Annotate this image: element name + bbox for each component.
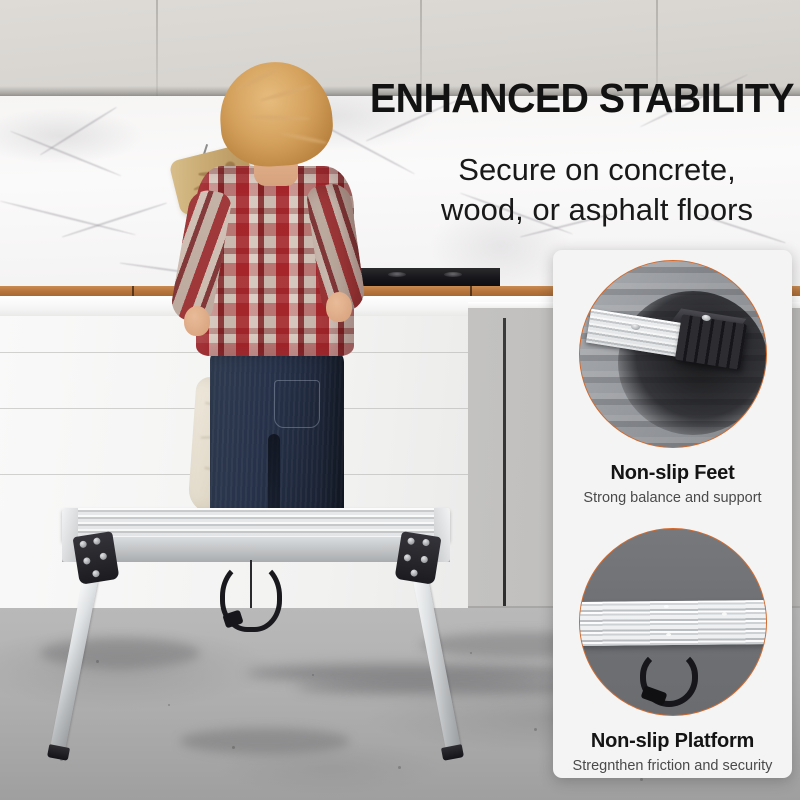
- jeans-pocket: [274, 380, 320, 428]
- subheadline: Secure on concrete, wood, or asphalt flo…: [400, 150, 794, 229]
- aluminum-work-platform: [34, 508, 478, 768]
- right-hand: [326, 292, 352, 322]
- feature-title: Non-slip Feet: [553, 462, 792, 485]
- feature-non-slip-platform: Non-slip Platform Stregnthen friction an…: [553, 506, 792, 774]
- feature-non-slip-feet: Non-slip Feet Strong balance and support: [553, 250, 792, 506]
- feature-subtitle: Strong balance and support: [553, 490, 792, 506]
- feature-title: Non-slip Platform: [553, 730, 792, 753]
- product-marketing-image: ENHANCED STABILITY Secure on concrete, w…: [0, 0, 800, 800]
- feature-subtitle: Stregnthen friction and security: [553, 758, 792, 774]
- blond-hair: [217, 58, 336, 170]
- feature-card: Non-slip Feet Strong balance and support…: [553, 250, 792, 778]
- ribbed-non-slip-platform-closeup-icon: [579, 528, 767, 716]
- gray-cabinet-seam: [503, 318, 506, 606]
- non-slip-rubber-foot-closeup-icon: [579, 260, 767, 448]
- hinge-plate-right: [394, 531, 441, 585]
- left-hand: [184, 306, 210, 336]
- platform-leg-right: [410, 563, 461, 752]
- platform-front-rail: [62, 536, 450, 562]
- page-title: ENHANCED STABILITY: [362, 78, 794, 119]
- non-slip-foot-left: [47, 744, 70, 761]
- non-slip-foot-right: [441, 744, 464, 761]
- platform-leg-left: [50, 563, 101, 752]
- subheadline-line-2: wood, or asphalt floors: [400, 190, 794, 230]
- toddler-standing-on-platform: [168, 62, 368, 532]
- subheadline-line-1: Secure on concrete,: [400, 150, 794, 190]
- hinge-plate-left: [72, 531, 119, 585]
